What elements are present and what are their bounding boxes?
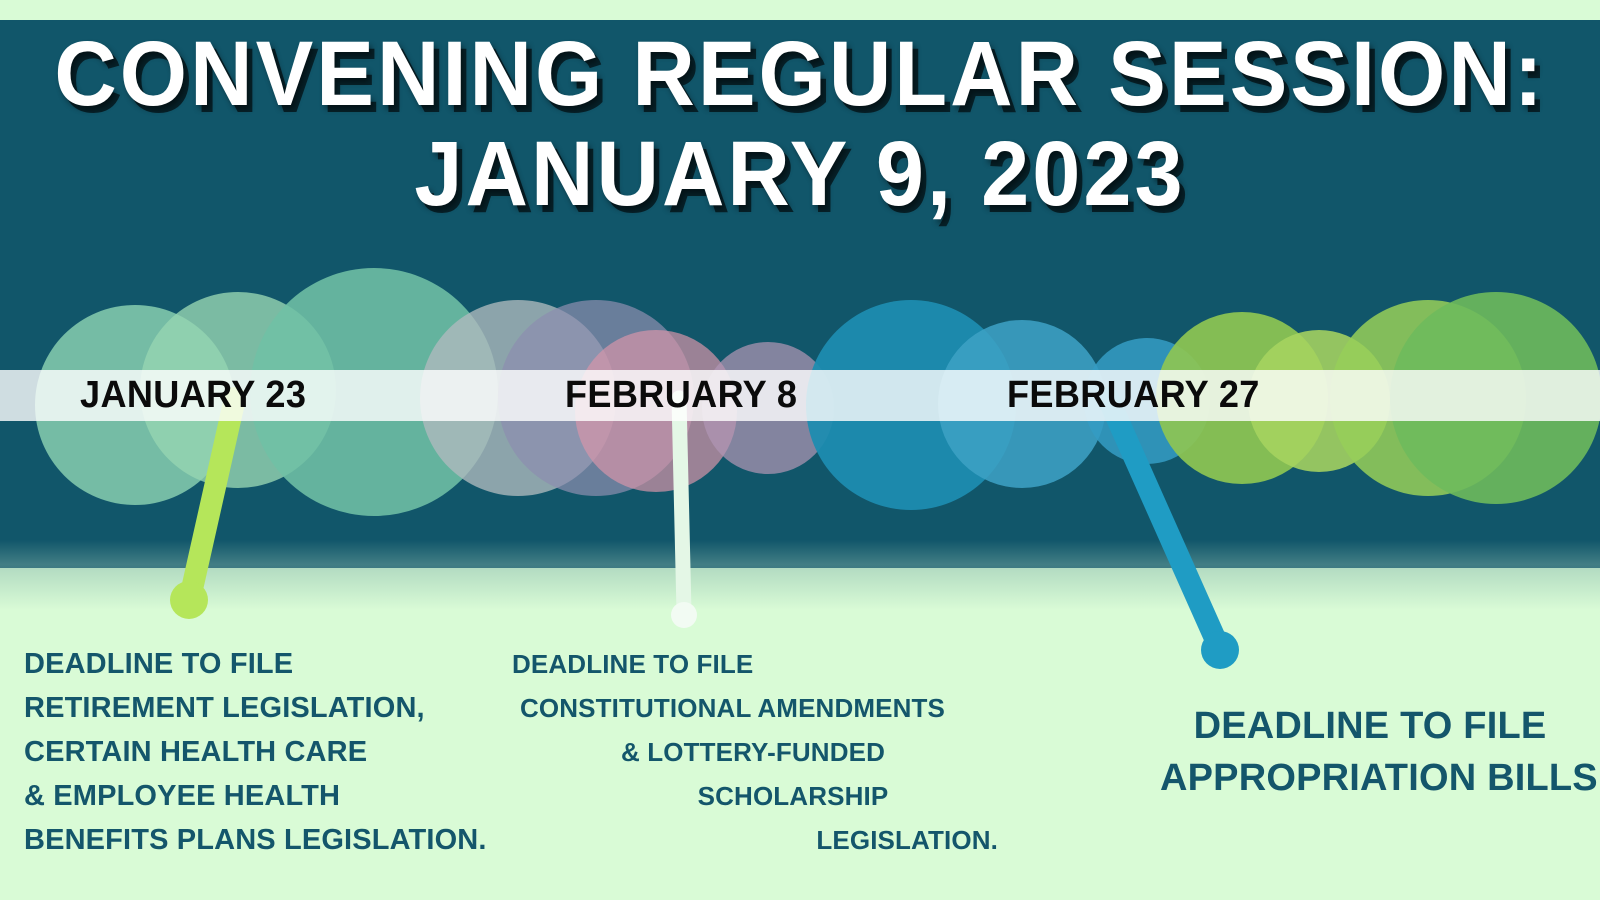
deadline-line: LEGISLATION. bbox=[498, 818, 998, 862]
deadline-line: & LOTTERY-FUNDED bbox=[498, 730, 998, 774]
deadline-line: APPROPRIATION BILLS bbox=[1160, 752, 1580, 804]
deadline-line: & EMPLOYEE HEALTH bbox=[24, 774, 487, 818]
connector-dot-february-8 bbox=[671, 602, 697, 628]
connector-dot-january-23 bbox=[170, 581, 208, 619]
deadline-line: DEADLINE TO FILE bbox=[498, 642, 998, 686]
infographic-canvas: CONVENING REGULAR SESSION: JANUARY 9, 20… bbox=[0, 0, 1600, 900]
deadline-line: CONSTITUTIONAL AMENDMENTS bbox=[498, 686, 998, 730]
deadline-block-constitutional: DEADLINE TO FILE CONSTITUTIONAL AMENDMEN… bbox=[498, 642, 998, 862]
timeline-date-labels: JANUARY 23 FEBRUARY 8 FEBRUARY 27 bbox=[0, 370, 1600, 421]
deadline-line: BENEFITS PLANS LEGISLATION. bbox=[24, 818, 487, 862]
date-january-23: JANUARY 23 bbox=[80, 370, 306, 421]
hero-panel bbox=[0, 20, 1600, 568]
deadline-line: DEADLINE TO FILE bbox=[1160, 700, 1580, 752]
date-february-8: FEBRUARY 8 bbox=[565, 370, 797, 421]
deadline-block-appropriation: DEADLINE TO FILE APPROPRIATION BILLS bbox=[1160, 700, 1580, 804]
deadline-line: DEADLINE TO FILE bbox=[24, 642, 487, 686]
decorative-circle-row bbox=[0, 20, 1600, 568]
deadline-line: SCHOLARSHIP bbox=[498, 774, 998, 818]
connector-dot-february-27 bbox=[1201, 631, 1239, 669]
deadline-block-retirement: DEADLINE TO FILE RETIREMENT LEGISLATION,… bbox=[24, 642, 487, 862]
deadline-line: CERTAIN HEALTH CARE bbox=[24, 730, 487, 774]
deadline-line: RETIREMENT LEGISLATION, bbox=[24, 686, 487, 730]
date-february-27: FEBRUARY 27 bbox=[1007, 370, 1260, 421]
